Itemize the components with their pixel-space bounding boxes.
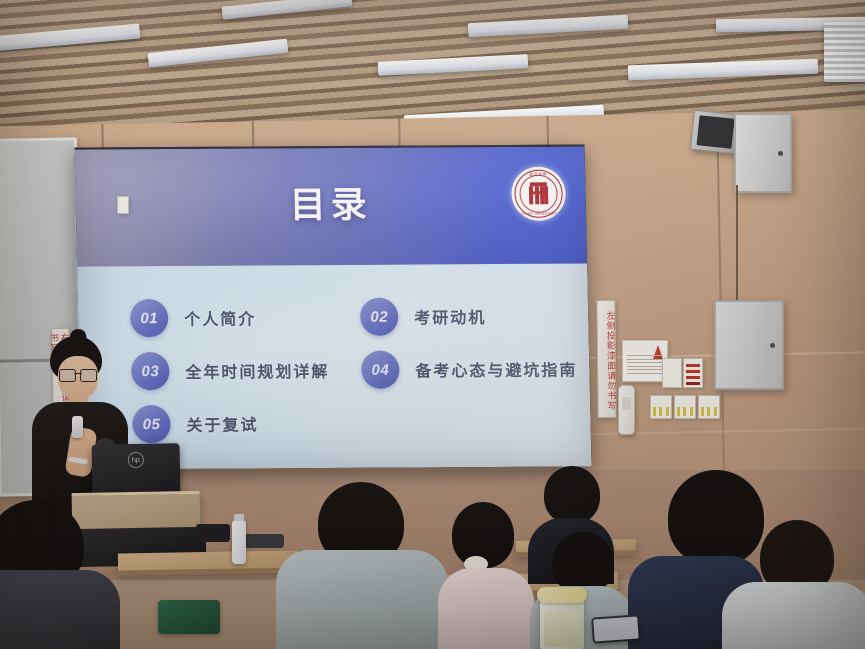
wall-switch[interactable] [117,196,129,214]
lecture-hall-photo: 目录 武汉大学 WUHAN UNIVERSITY [0,0,865,649]
table-of-contents: 01 个人简介 02 考研动机 03 全年时间规划详解 04 备考心态与避坑指南… [75,146,592,469]
presentation-slide: 目录 武汉大学 WUHAN UNIVERSITY [75,146,592,469]
control-panel-red[interactable] [683,358,703,388]
glasses-icon [58,369,98,380]
breaker-panel-1[interactable] [650,395,672,419]
hp-logo-icon: hp [128,452,144,468]
toc-item: 04 备考心态与避坑指南 [361,350,578,389]
classroom-chair [158,600,220,634]
audience-torso [438,568,534,649]
toc-item-label: 全年时间规划详解 [185,358,330,383]
thermos-bottle [540,596,584,649]
thermos-lid [537,587,587,603]
toc-number-badge: 01 [130,299,169,337]
toc-item-label: 考研动机 [414,304,487,328]
smartphone-on-desk [591,614,641,643]
toc-number-badge: 02 [360,298,399,336]
breaker-panel-2[interactable] [674,395,696,419]
ceiling-vent [824,22,865,82]
toc-item-label: 备考心态与避坑指南 [415,357,578,382]
breaker-panel-3[interactable] [698,395,720,419]
audience-torso [722,582,865,649]
audience-head [552,532,614,594]
toc-item: 02 考研动机 [360,297,487,336]
toc-number-badge: 04 [361,351,400,389]
toc-item-label: 个人简介 [184,305,257,329]
control-panel-left[interactable] [662,358,682,388]
audience-torso [0,570,120,649]
toc-number-badge: 03 [131,352,170,390]
audience-torso [276,550,448,649]
equipment-cabinet-upper[interactable] [734,113,792,193]
wall-intercom-phone[interactable] [618,385,635,435]
audience-head [544,466,600,524]
toc-item-label: 关于复试 [186,411,259,435]
presentation-clicker [72,416,83,438]
toc-item: 05 关于复试 [132,404,259,443]
toc-item: 03 全年时间规划详解 [131,351,330,390]
student-desk-left [118,550,298,575]
projection-screen: 目录 武汉大学 WUHAN UNIVERSITY [74,144,591,469]
podium-equipment [196,524,230,542]
toc-item: 01 个人简介 [130,298,257,337]
toc-number-badge: 05 [132,405,171,443]
hp-monitor: hp [92,443,181,497]
right-projection-warning-sign: 左侧投影漆面请勿书写 [596,300,616,418]
equipment-cabinet-lower[interactable] [714,300,784,390]
notice-text-lines [627,355,663,377]
audience-head [668,470,764,566]
water-bottle [232,520,246,564]
